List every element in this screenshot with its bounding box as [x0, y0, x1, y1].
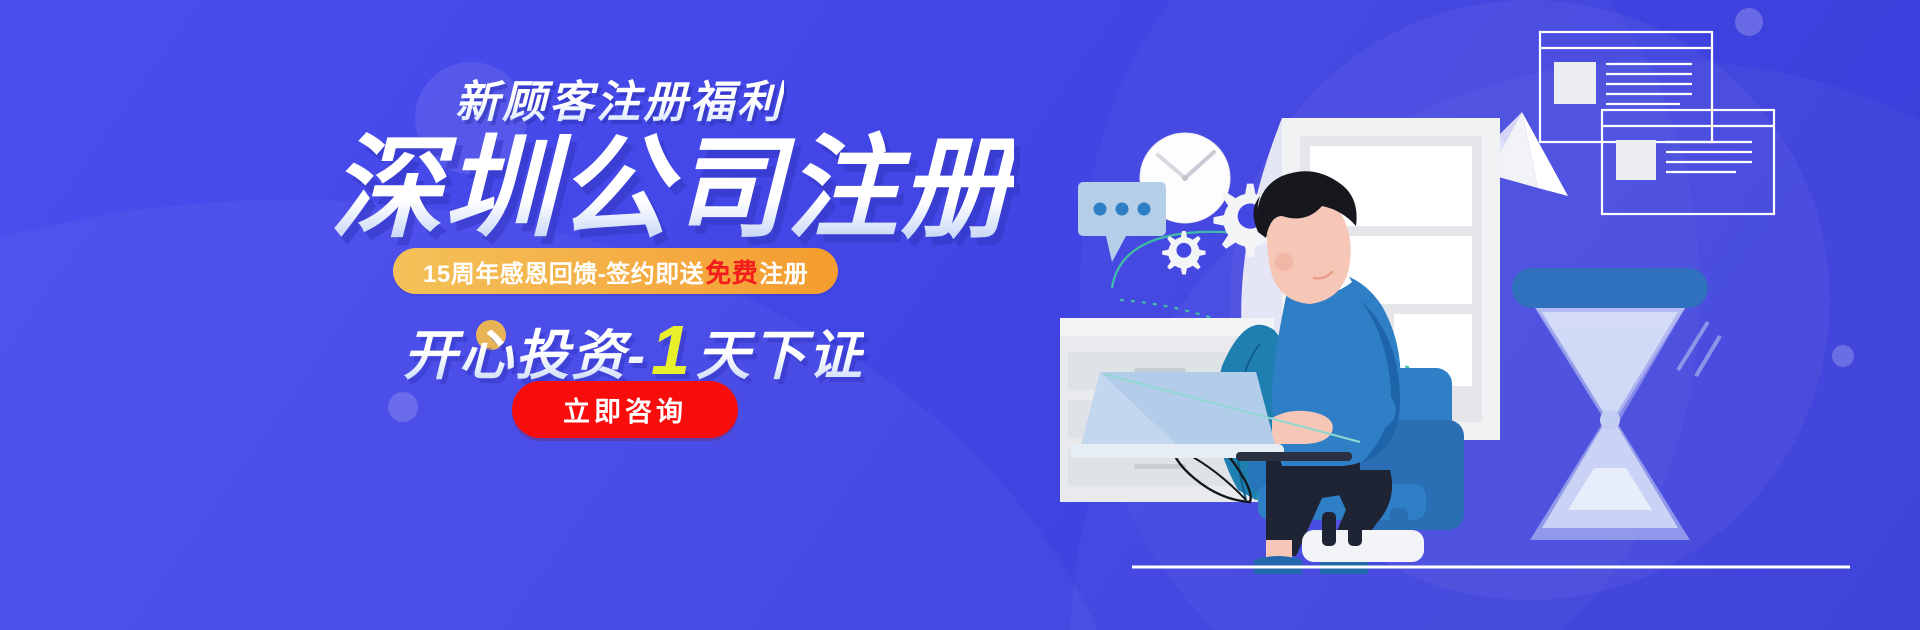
promo-banner: 新顾客注册福利 深圳公司注册 15周年感恩回馈-签约即送 免费 注册 开心投资-…	[0, 0, 1920, 630]
banner-copy: 新顾客注册福利 深圳公司注册 15周年感恩回馈-签约即送 免费 注册 开心投资-…	[0, 0, 1000, 630]
promo-pill-suffix: 注册	[759, 254, 808, 289]
tagline-prefix: 开心投资-	[403, 326, 647, 386]
promo-pill: 15周年感恩回馈-签约即送 免费 注册	[393, 248, 838, 294]
hero-illustration	[1060, 0, 1920, 630]
consult-now-button[interactable]: 立即咨询	[512, 381, 738, 438]
tagline-number: 1	[647, 311, 696, 389]
tagline-suffix: 天下证	[696, 326, 864, 386]
promo-pill-prefix: 15周年感恩回馈-签约即送	[423, 254, 704, 289]
speech-bubble-icon	[1078, 182, 1166, 262]
promo-pill-highlight: 免费	[704, 253, 759, 290]
banner-eyebrow: 新顾客注册福利	[455, 66, 784, 130]
banner-headline: 深圳公司注册	[330, 130, 1014, 248]
banner-tagline: 开心投资-1天下证	[403, 310, 864, 390]
